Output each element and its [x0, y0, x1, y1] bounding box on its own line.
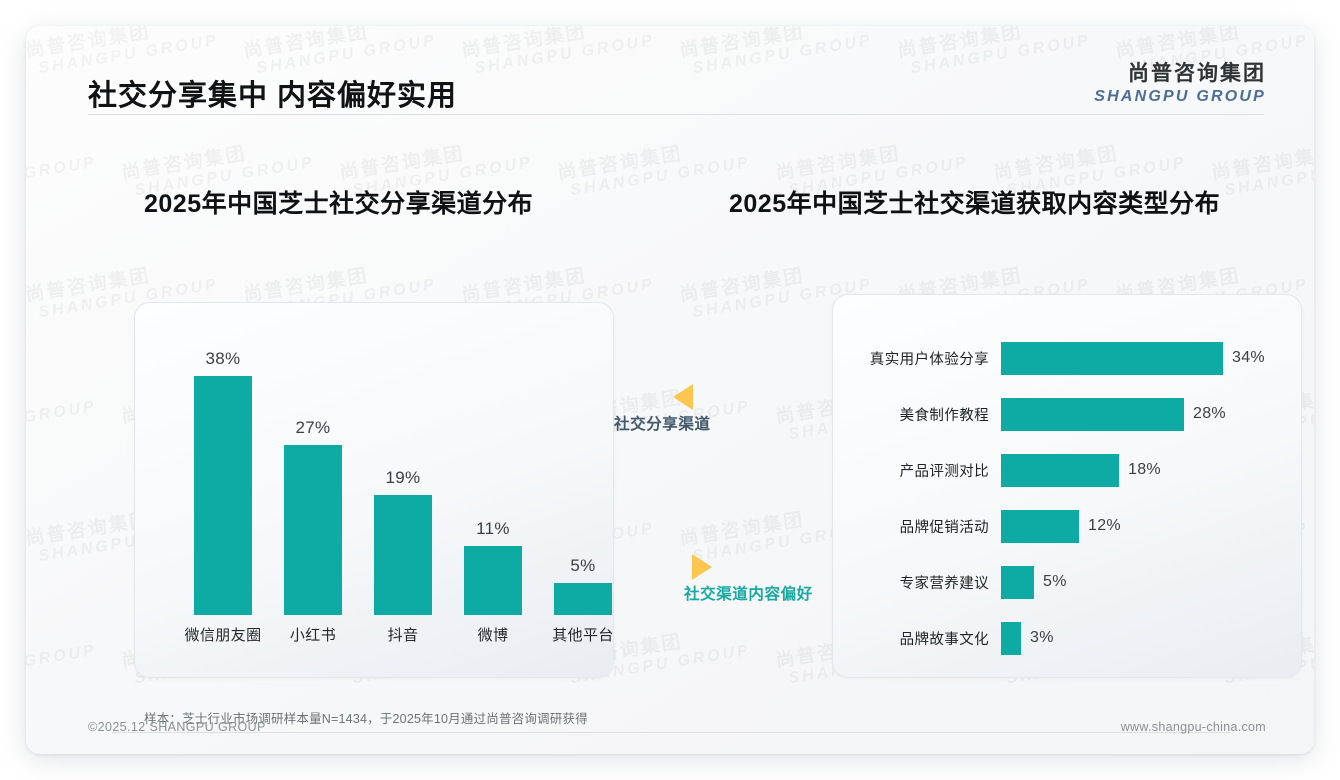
- bar-category-label: 美食制作教程: [833, 404, 1001, 425]
- bar-category-label: 品牌促销活动: [833, 516, 1001, 537]
- bar-value-label: 11%: [476, 519, 510, 539]
- bar-category-label: 真实用户体验分享: [833, 348, 1001, 369]
- bar-value-label: 28%: [1193, 405, 1226, 423]
- bar-row: 真实用户体验分享34%: [833, 341, 1301, 375]
- bar: [554, 583, 612, 615]
- bar-column: 5%: [554, 556, 612, 615]
- right-chart-title: 2025年中国芝士社交渠道获取内容类型分布: [729, 184, 1220, 220]
- watermark-text: 尚普咨询集团SHANGPU GROUP: [26, 377, 98, 446]
- bar: [284, 445, 342, 615]
- bar-value-label: 5%: [570, 556, 595, 576]
- horizontal-bar-chart: 真实用户体验分享34%美食制作教程28%产品评测对比18%品牌促销活动12%专家…: [833, 317, 1301, 678]
- bar-column: 19%: [374, 468, 432, 615]
- annotation-label: 社交分享渠道: [614, 412, 711, 434]
- bar: [464, 546, 522, 615]
- bar: [1001, 622, 1021, 655]
- brand-logo: 尚普咨询集团 SHANGPU GROUP: [1094, 62, 1266, 106]
- content-type-chart-panel: 真实用户体验分享34%美食制作教程28%产品评测对比18%品牌促销活动12%专家…: [832, 294, 1302, 678]
- bar-column: 11%: [464, 519, 522, 615]
- bar-row: 产品评测对比18%: [833, 453, 1301, 487]
- copyright-text: ©2025.12 SHANGPU GROUP: [88, 720, 266, 734]
- triangle-left-icon: [673, 384, 693, 410]
- bar: [1001, 566, 1034, 599]
- slide-header: 社交分享集中 内容偏好实用 尚普咨询集团 SHANGPU GROUP: [26, 26, 1314, 110]
- bar-column: 27%: [284, 418, 342, 615]
- bar-row: 美食制作教程28%: [833, 397, 1301, 431]
- vertical-bar-chart: 38%微信朋友圈27%小红书19%抖音11%微博5%其他平台: [135, 303, 613, 677]
- bar-category-label: 专家营养建议: [833, 572, 1001, 593]
- logo-english-text: SHANGPU GROUP: [1094, 87, 1266, 106]
- social-share-channel-chart-panel: 38%微信朋友圈27%小红书19%抖音11%微博5%其他平台: [134, 302, 614, 678]
- bar-value-label: 27%: [296, 418, 331, 438]
- bar: [1001, 510, 1079, 543]
- watermark-text: 尚普咨询集团SHANGPU GROUP: [26, 133, 98, 202]
- bar-value-label: 38%: [206, 349, 241, 369]
- watermark-text: 尚普咨询集团SHANGPU GROUP: [556, 133, 752, 202]
- bar-value-label: 5%: [1043, 573, 1067, 591]
- left-chart-title: 2025年中国芝士社交分享渠道分布: [144, 184, 533, 220]
- bar-category-label: 其他平台: [529, 624, 614, 645]
- bar-value-label: 12%: [1088, 517, 1121, 535]
- bar-column: 38%: [194, 349, 252, 615]
- bar: [194, 376, 252, 615]
- annotation-social-share-channel: 社交分享渠道: [614, 384, 711, 434]
- bar-row: 品牌故事文化3%: [833, 621, 1301, 655]
- bar: [1001, 398, 1184, 431]
- bar-value-label: 3%: [1030, 629, 1054, 647]
- bar-category-label: 品牌故事文化: [833, 628, 1001, 649]
- bar-row: 品牌促销活动12%: [833, 509, 1301, 543]
- bar: [1001, 342, 1223, 375]
- logo-chinese-text: 尚普咨询集团: [1094, 62, 1266, 86]
- bar-row: 专家营养建议5%: [833, 565, 1301, 599]
- triangle-right-icon: [692, 554, 712, 580]
- annotation-label: 社交渠道内容偏好: [684, 582, 813, 604]
- bar-value-label: 19%: [386, 468, 421, 488]
- bar-value-label: 18%: [1128, 461, 1161, 479]
- watermark-text: 尚普咨询集团SHANGPU GROUP: [1210, 133, 1314, 202]
- slide-footer: ©2025.12 SHANGPU GROUP www.shangpu-china…: [26, 708, 1314, 754]
- slide-canvas: 尚普咨询集团SHANGPU GROUP尚普咨询集团SHANGPU GROUP尚普…: [26, 26, 1314, 754]
- page-title: 社交分享集中 内容偏好实用: [88, 72, 457, 114]
- bar: [374, 495, 432, 615]
- bar-value-label: 34%: [1232, 349, 1265, 367]
- watermark-text: 尚普咨询集团SHANGPU GROUP: [26, 621, 98, 690]
- bar-category-label: 产品评测对比: [833, 460, 1001, 481]
- annotation-content-preference: 社交渠道内容偏好: [684, 554, 813, 604]
- website-link[interactable]: www.shangpu-china.com: [1121, 720, 1266, 734]
- bar: [1001, 454, 1119, 487]
- header-divider: [88, 114, 1264, 115]
